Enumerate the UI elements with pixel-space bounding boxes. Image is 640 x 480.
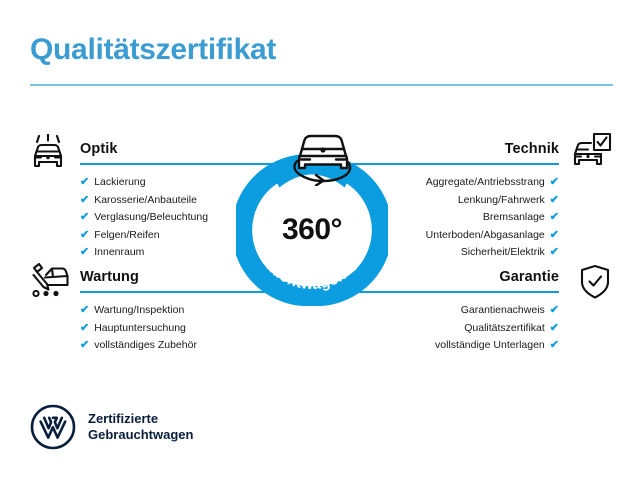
check-icon: ✔ — [80, 302, 89, 320]
check-icon: ✔ — [550, 320, 559, 338]
car-checkbox-icon — [570, 132, 614, 172]
list-item-label: Qualitätszertifikat — [464, 322, 545, 334]
check-icon: ✔ — [550, 337, 559, 355]
check-icon: ✔ — [80, 244, 89, 262]
check-icon: ✔ — [80, 174, 89, 192]
check-icon: ✔ — [80, 227, 89, 245]
check-icon: ✔ — [550, 227, 559, 245]
page-title: Qualitätszertifikat — [30, 33, 276, 67]
list-item-label: vollständige Unterlagen — [435, 339, 545, 351]
list-item-label: vollständiges Zubehör — [94, 339, 197, 351]
title-divider — [30, 84, 613, 86]
check-icon: ✔ — [550, 209, 559, 227]
check-icon: ✔ — [550, 174, 559, 192]
pen-car-checklist-icon — [26, 262, 70, 302]
list-item: ✔vollständiges Zubehör — [80, 337, 317, 355]
list-item-label: Sicherheit/Elektrik — [461, 246, 545, 258]
vw-logo — [30, 404, 76, 450]
list-item-label: Karosserie/Anbauteile — [94, 194, 197, 206]
footer-logo-block: Zertifizierte Gebrauchtwagen — [30, 404, 193, 450]
check-icon: ✔ — [80, 192, 89, 210]
check-icon: ✔ — [550, 192, 559, 210]
list-item-label: Verglasung/Beleuchtung — [94, 211, 208, 223]
check-icon: ✔ — [550, 244, 559, 262]
car-shine-icon — [26, 134, 70, 174]
list-item-label: Unterboden/Abgasanlage — [426, 229, 545, 241]
footer-line-2: Gebrauchtwagen — [88, 427, 193, 444]
list-item-label: Bremsanlage — [483, 211, 545, 223]
shield-check-icon — [573, 262, 617, 302]
section-list: Garantienachweis✔ Qualitätszertifikat✔ v… — [322, 302, 559, 355]
footer-text: Zertifizierte Gebrauchtwagen — [88, 411, 193, 444]
car-rotate-icon — [275, 124, 371, 186]
list-item-label: Lackierung — [94, 176, 145, 188]
check-icon: ✔ — [80, 320, 89, 338]
list-item-label: Innenraum — [94, 246, 144, 258]
section-list: ✔Wartung/Inspektion ✔Hauptuntersuchung ✔… — [80, 302, 317, 355]
certificate-page: Qualitätszertifikat — [0, 0, 640, 480]
check-icon: ✔ — [550, 302, 559, 320]
list-item-label: Hauptuntersuchung — [94, 322, 186, 334]
list-item: Qualitätszertifikat✔ — [322, 320, 559, 338]
check-icon: ✔ — [80, 337, 89, 355]
check-icon: ✔ — [80, 209, 89, 227]
list-item-label: Wartung/Inspektion — [94, 304, 184, 316]
list-item: vollständige Unterlagen✔ — [322, 337, 559, 355]
footer-line-1: Zertifizierte — [88, 411, 193, 428]
list-item-label: Felgen/Reifen — [94, 229, 159, 241]
list-item-label: Lenkung/Fahrwerk — [458, 194, 545, 206]
list-item-label: Aggregate/Antriebsstrang — [426, 176, 545, 188]
list-item-label: Garantienachweis — [461, 304, 545, 316]
list-item: ✔Hauptuntersuchung — [80, 320, 317, 338]
